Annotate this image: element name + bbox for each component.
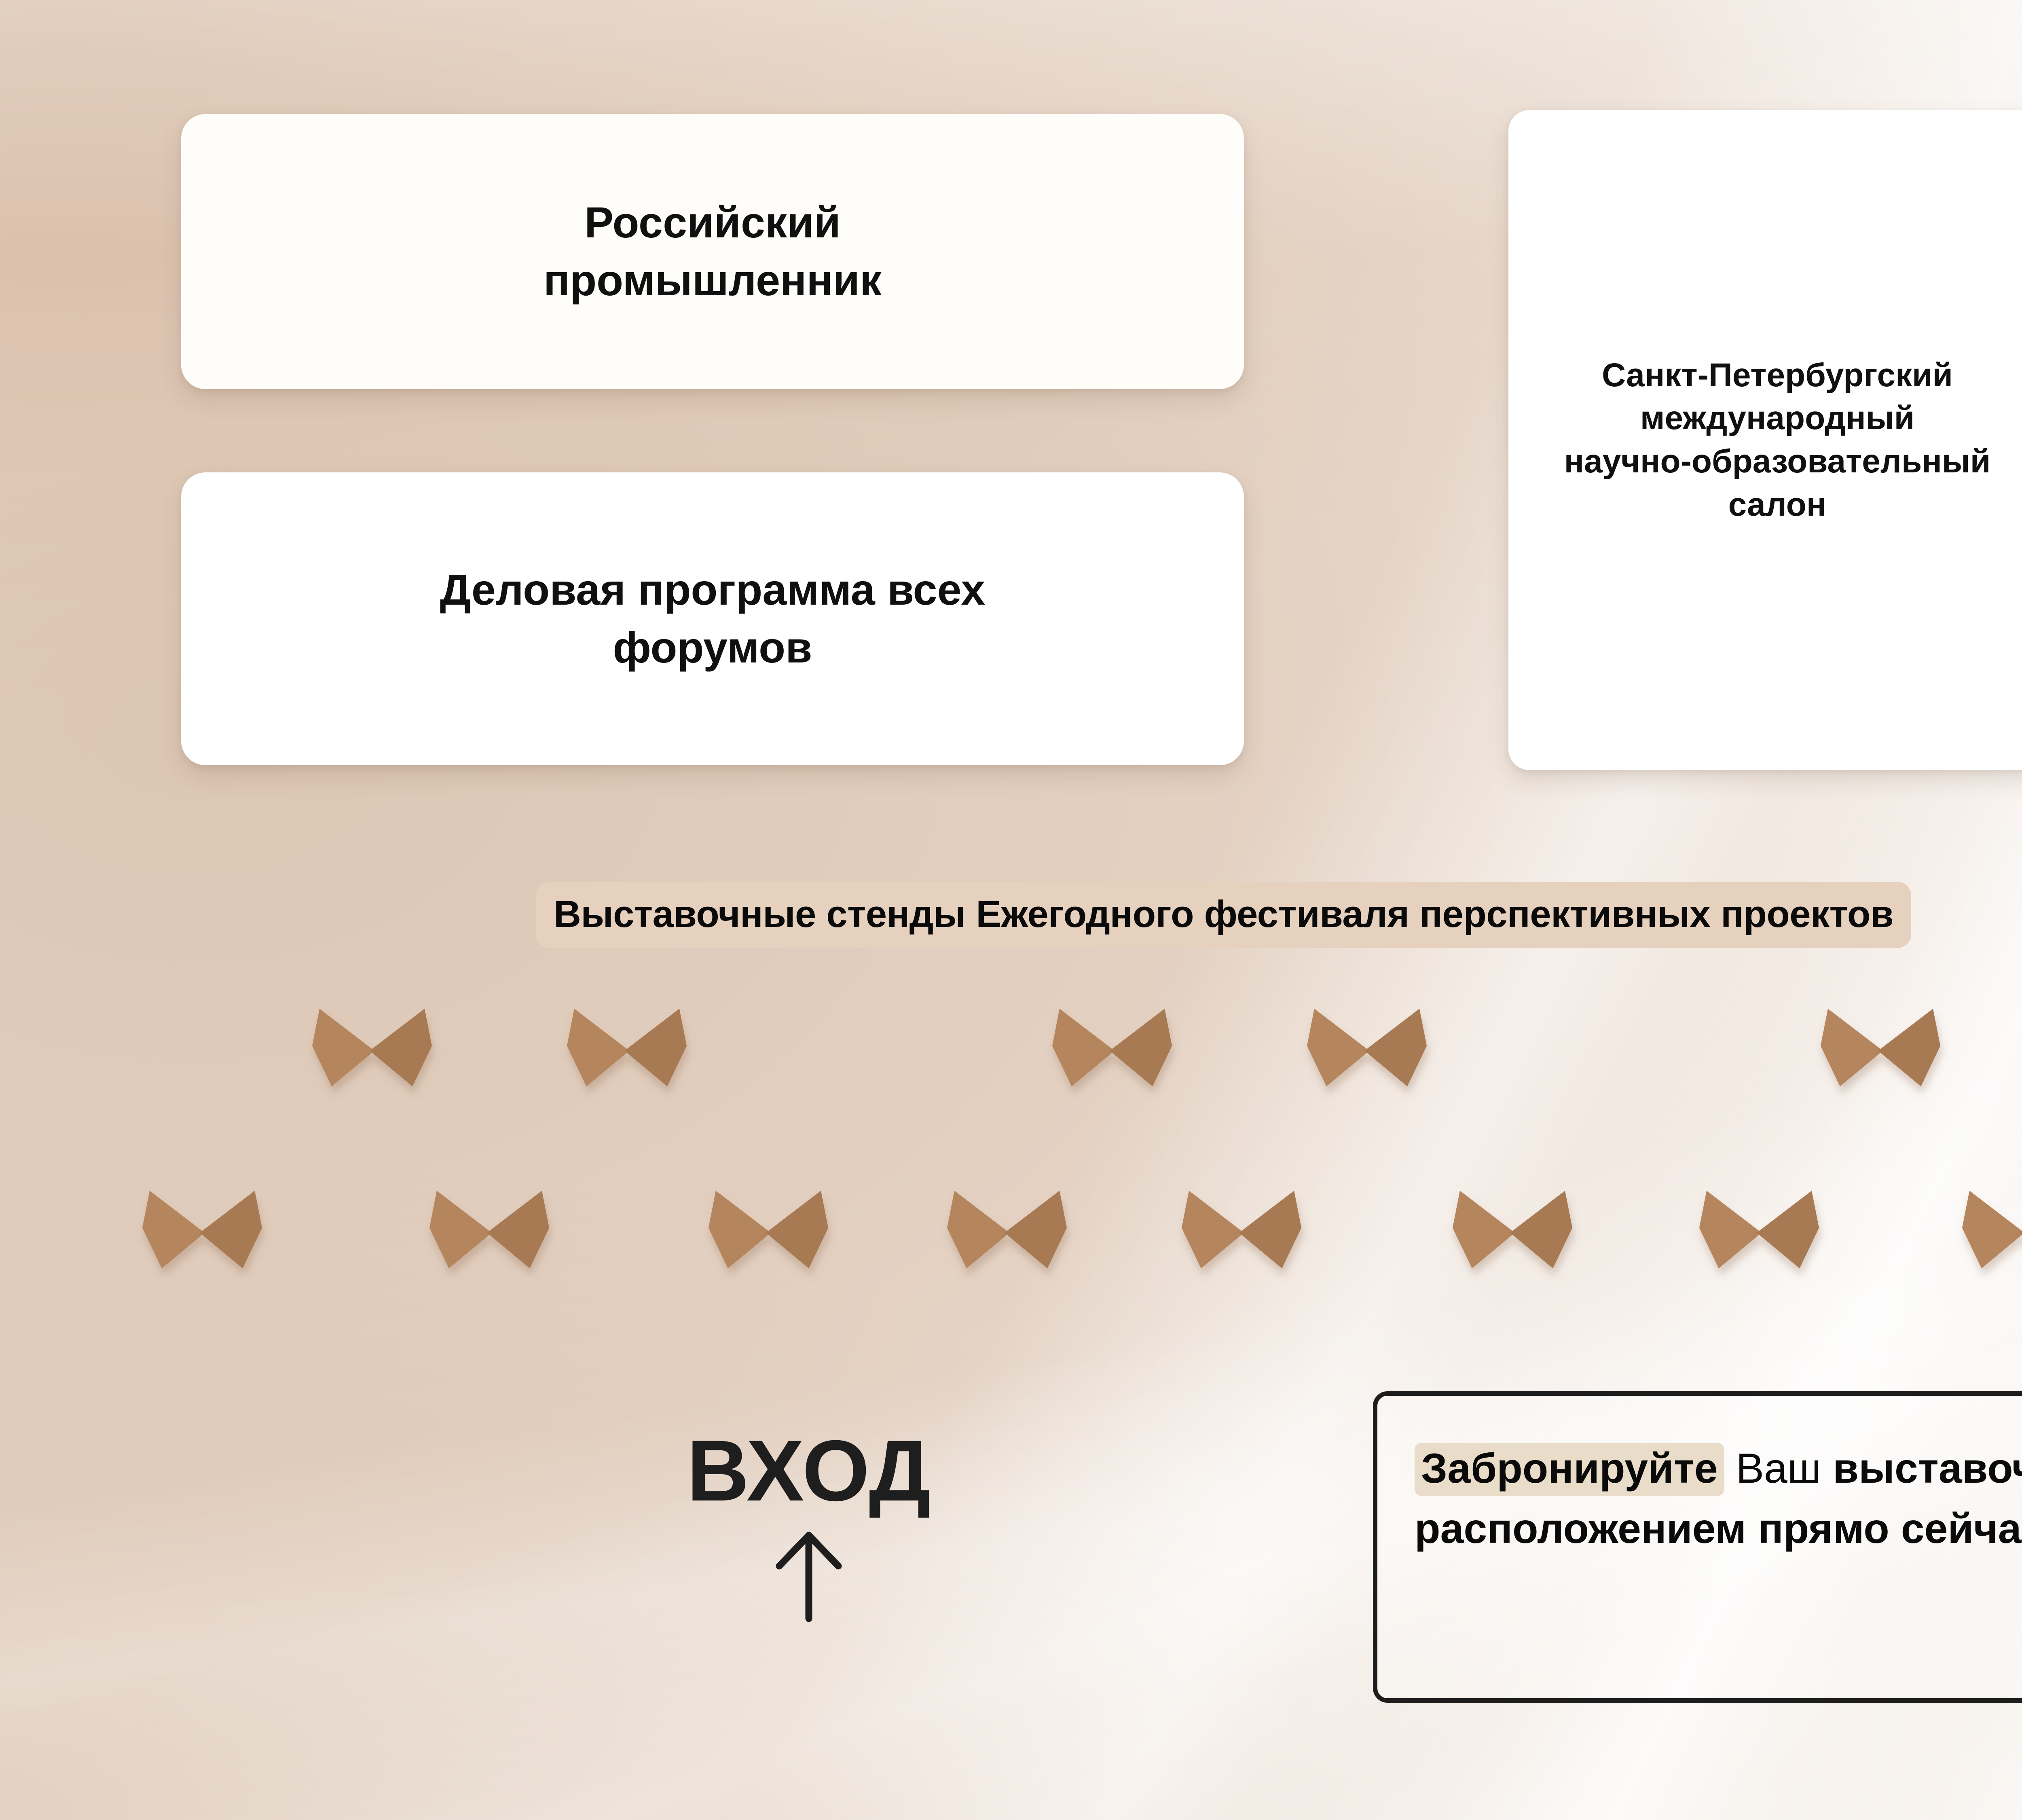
slide-canvas: Российский промышленник Деловая программ…	[0, 0, 2022, 1820]
cta-highlight-word: Забронируйте	[1415, 1443, 1724, 1496]
card-spb-scientific-educational-salon[interactable]: Санкт-Петербургский международный научно…	[1508, 110, 2022, 770]
booth-stand[interactable]	[481, 1189, 550, 1270]
booth-stand[interactable]	[2014, 1189, 2022, 1270]
booth-stand[interactable]	[760, 1189, 829, 1270]
booth-stand[interactable]	[1872, 1007, 1941, 1088]
booth-stand[interactable]	[194, 1189, 263, 1270]
booth-stand[interactable]	[999, 1189, 1068, 1270]
booth-stand[interactable]	[364, 1007, 433, 1088]
booth-stand[interactable]	[1504, 1189, 1573, 1270]
booth-stand[interactable]	[1233, 1189, 1302, 1270]
booth-stand[interactable]	[1751, 1189, 1820, 1270]
booth-stand[interactable]	[1359, 1007, 1428, 1088]
card-label: Деловая программа всех форумов	[424, 561, 1002, 676]
cta-text: Забронируйте Ваш выставочный стенд с выг…	[1415, 1439, 2022, 1559]
entrance-marker: ВХОД	[631, 1428, 987, 1622]
booth-stand[interactable]	[1961, 1189, 2022, 1270]
card-label: Санкт-Петербургский международный научно…	[1548, 354, 2007, 526]
booth-stand[interactable]	[1104, 1007, 1173, 1088]
entrance-label: ВХОД	[631, 1428, 987, 1514]
card-label: Российский промышленник	[527, 194, 898, 309]
card-business-program[interactable]: Деловая программа всех форумов	[181, 472, 1244, 765]
arrow-up-icon	[770, 1529, 847, 1622]
cta-bold-phrase: выставочный стенд	[1833, 1445, 2022, 1492]
booth-stand[interactable]	[619, 1007, 687, 1088]
cta-booking-box[interactable]: Забронируйте Ваш выставочный стенд с выг…	[1373, 1391, 2022, 1703]
section-banner-exhibition-stands: Выставочные стенды Ежегодного фестиваля …	[536, 882, 1911, 948]
cta-text-part-1: Ваш	[1724, 1445, 1833, 1492]
card-russian-industrialist[interactable]: Российский промышленник	[181, 114, 1244, 389]
